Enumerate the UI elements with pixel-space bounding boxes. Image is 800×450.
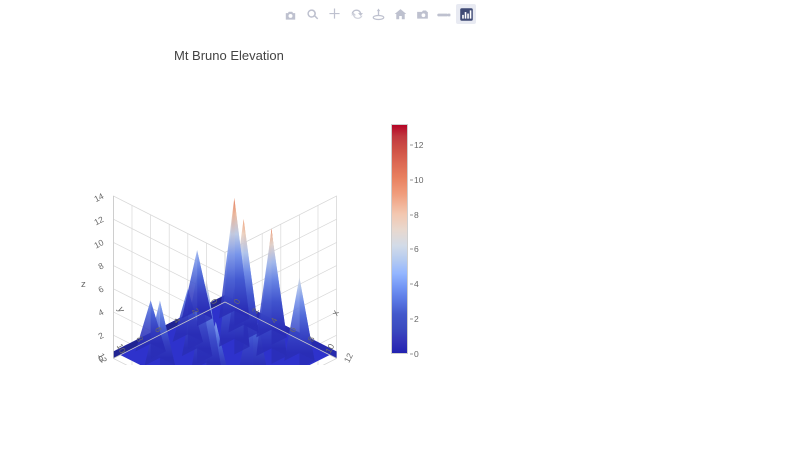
x-tick-12: 12 — [342, 351, 355, 364]
z-tick-6: 6 — [97, 284, 106, 295]
colorbar-gradient — [391, 124, 408, 354]
pan-icon[interactable] — [324, 4, 344, 24]
z-axis-title: z — [81, 279, 86, 290]
plotly-modebar[interactable] — [280, 4, 476, 24]
turntable-rotation-icon[interactable] — [368, 4, 388, 24]
zoom-icon[interactable] — [302, 4, 322, 24]
colorbar[interactable]: 024681012 — [391, 124, 408, 354]
z-tick-10: 10 — [92, 237, 105, 250]
colorbar-tick-10: 10 — [414, 175, 423, 185]
colorbar-tick-8: 8 — [414, 210, 419, 220]
colorbar-tick-2: 2 — [414, 314, 419, 324]
z-tick-2: 2 — [97, 330, 106, 341]
toggle-spike-lines-icon[interactable] — [434, 4, 454, 24]
plotly-logo-icon[interactable] — [456, 4, 476, 24]
orbital-rotation-icon[interactable] — [346, 4, 366, 24]
colorbar-tickmark — [410, 284, 413, 285]
surface-3d-scene[interactable]: 12108642002468101202468101214xyz — [80, 120, 370, 365]
colorbar-tickmark — [410, 249, 413, 250]
colorbar-tick-6: 6 — [414, 244, 419, 254]
colorbar-tickmark — [410, 319, 413, 320]
download-plot-icon[interactable] — [280, 4, 300, 24]
plot-container[interactable]: Mt Bruno Elevation 121086420024681012024… — [0, 0, 800, 450]
reset-camera-home-icon[interactable] — [390, 4, 410, 24]
colorbar-tick-12: 12 — [414, 140, 423, 150]
colorbar-tickmark — [410, 214, 413, 215]
colorbar-tick-0: 0 — [414, 349, 419, 359]
z-tick-14: 14 — [92, 191, 105, 204]
z-tick-4: 4 — [97, 307, 106, 318]
reset-camera-axes-icon[interactable] — [412, 4, 432, 24]
plot-title: Mt Bruno Elevation — [174, 48, 284, 63]
colorbar-tick-4: 4 — [414, 279, 419, 289]
z-tick-8: 8 — [97, 260, 106, 271]
z-tick-12: 12 — [92, 214, 105, 227]
colorbar-tickmark — [410, 179, 413, 180]
colorbar-tick-labels: 024681012 — [410, 124, 450, 354]
colorbar-tickmark — [410, 144, 413, 145]
colorbar-tickmark — [410, 354, 413, 355]
